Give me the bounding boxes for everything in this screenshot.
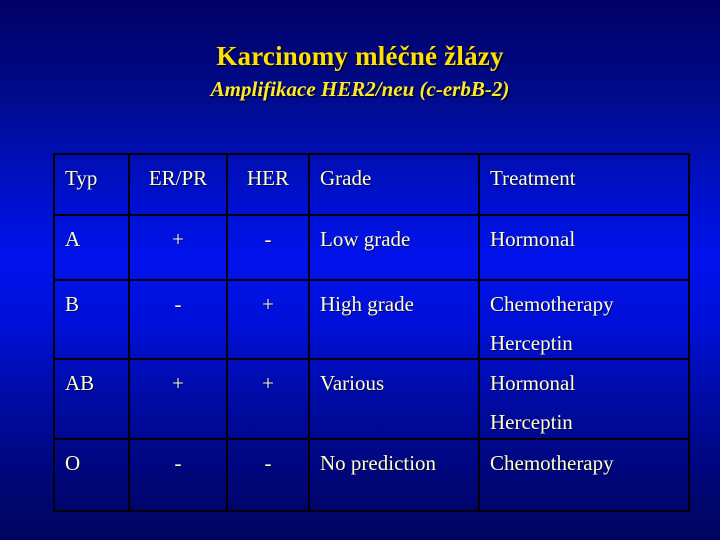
table-row: AB + + Various Hormonal Herceptin — [55, 360, 688, 440]
cell-treatment-line2: Herceptin — [490, 402, 692, 442]
cell-treatment: Hormonal Herceptin — [480, 360, 692, 438]
column-header-typ: Typ — [55, 155, 130, 214]
table-row: B - + High grade Chemotherapy Herceptin — [55, 281, 688, 360]
cell-treatment-line1: Hormonal — [490, 371, 575, 395]
cell-typ: A — [55, 216, 130, 279]
cell-grade: High grade — [310, 281, 480, 358]
cell-er-pr: + — [130, 360, 228, 438]
page-title: Karcinomy mléčné žlázy — [0, 42, 720, 71]
cell-her: + — [228, 281, 310, 358]
cell-her: + — [228, 360, 310, 438]
cell-typ: B — [55, 281, 130, 358]
cell-er-pr: - — [130, 281, 228, 358]
column-header-treatment: Treatment — [480, 155, 692, 214]
cell-her: - — [228, 216, 310, 279]
cell-treatment-line1: Hormonal — [490, 227, 575, 251]
cell-treatment: Hormonal — [480, 216, 692, 279]
slide-canvas: Karcinomy mléčné žlázy Amplifikace HER2/… — [0, 0, 720, 540]
cell-treatment: Chemotherapy — [480, 440, 692, 510]
cell-her: - — [228, 440, 310, 510]
cell-grade: No prediction — [310, 440, 480, 510]
cell-typ: O — [55, 440, 130, 510]
title-block: Karcinomy mléčné žlázy Amplifikace HER2/… — [0, 42, 720, 101]
cell-er-pr: + — [130, 216, 228, 279]
data-table: Typ ER/PR HER Grade Treatment A + - Low … — [53, 153, 690, 512]
page-subtitle: Amplifikace HER2/neu (c-erbB-2) — [0, 78, 720, 101]
column-header-er-pr: ER/PR — [130, 155, 228, 214]
table-row: A + - Low grade Hormonal — [55, 216, 688, 281]
cell-er-pr: - — [130, 440, 228, 510]
cell-grade: Low grade — [310, 216, 480, 279]
column-header-her: HER — [228, 155, 310, 214]
cell-typ: AB — [55, 360, 130, 438]
table-row: O - - No prediction Chemotherapy — [55, 440, 688, 510]
cell-treatment-line2: Herceptin — [490, 323, 692, 363]
table-header-row: Typ ER/PR HER Grade Treatment — [55, 155, 688, 216]
column-header-grade: Grade — [310, 155, 480, 214]
cell-treatment-line1: Chemotherapy — [490, 451, 614, 475]
cell-grade: Various — [310, 360, 480, 438]
cell-treatment: Chemotherapy Herceptin — [480, 281, 692, 358]
cell-treatment-line1: Chemotherapy — [490, 292, 614, 316]
